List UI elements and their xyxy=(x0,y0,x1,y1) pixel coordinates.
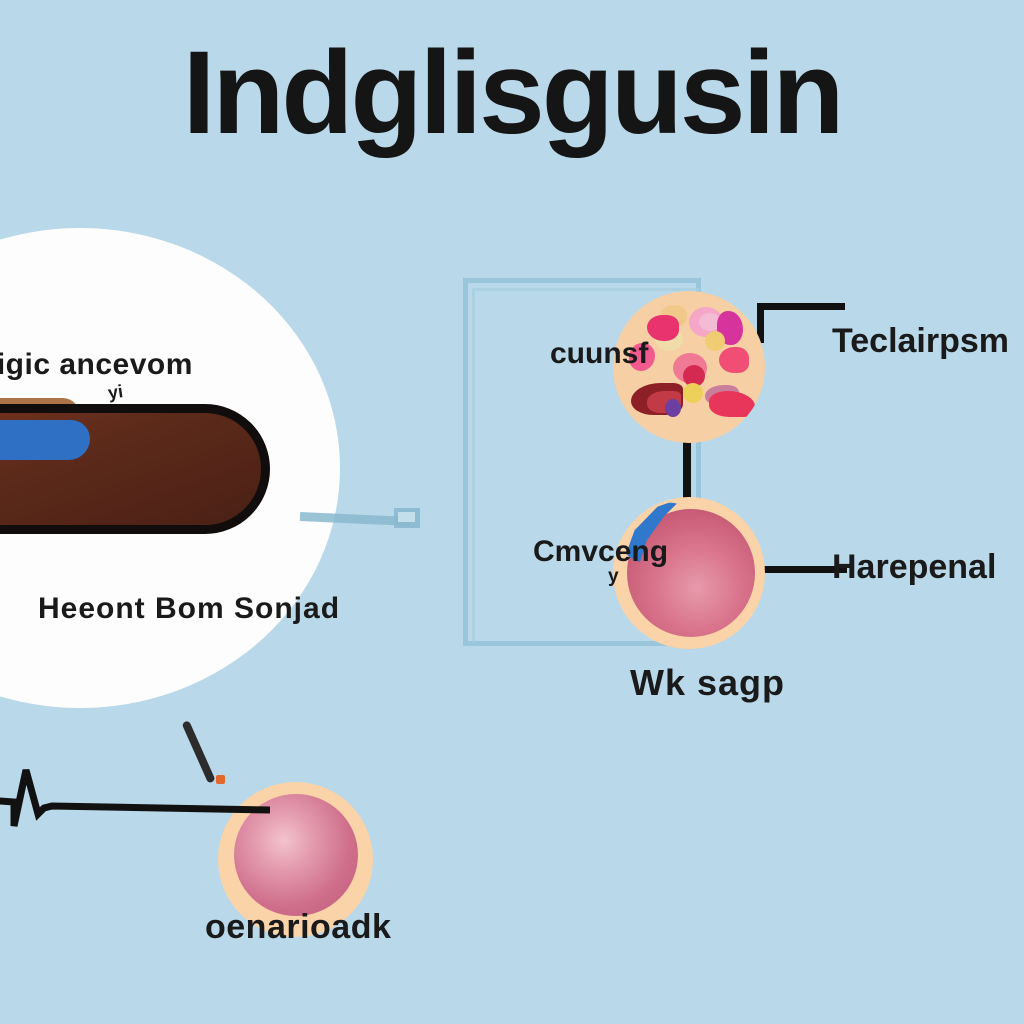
cell-diagram-middle xyxy=(613,497,765,649)
organ-label: nigic ancevom xyxy=(0,348,193,382)
cell-link-connector xyxy=(683,438,691,502)
bottom-cell-label: oenarioadk xyxy=(205,908,391,947)
cell-granule xyxy=(647,315,679,341)
cell-group-label: Wk sagp xyxy=(630,662,785,704)
middle-cell-caller-label: Cmvceng xyxy=(533,535,668,569)
page-title: Indglisgusin xyxy=(0,34,1024,152)
panel-to-frame-connector-endcap-inner xyxy=(398,512,415,522)
organ-label-sub: yi xyxy=(107,381,125,404)
figure-canvas: Indglisgusin nigic ancevom yi Heeont Bom… xyxy=(0,0,1024,1024)
heart-source-label: Heeont Bom Sonjad xyxy=(38,592,340,626)
ecg-waveform xyxy=(0,740,270,870)
top-callout-connector-horizontal xyxy=(757,303,845,310)
cell-granule xyxy=(709,391,755,417)
heart-vessel-patch xyxy=(0,420,90,460)
middle-cell-caller-label-sub: y xyxy=(608,566,619,588)
cell-granule xyxy=(719,347,749,373)
ecg-trace-line xyxy=(0,750,270,826)
middle-cell-callout-label: Harepenal xyxy=(832,548,996,587)
cell-granule xyxy=(683,383,703,403)
top-cell-callout-label: Teclairpsm xyxy=(832,322,1009,361)
top-cell-caller-label: cuunsf xyxy=(550,337,648,371)
cell-granule xyxy=(665,399,681,417)
cell-granule xyxy=(705,331,725,351)
